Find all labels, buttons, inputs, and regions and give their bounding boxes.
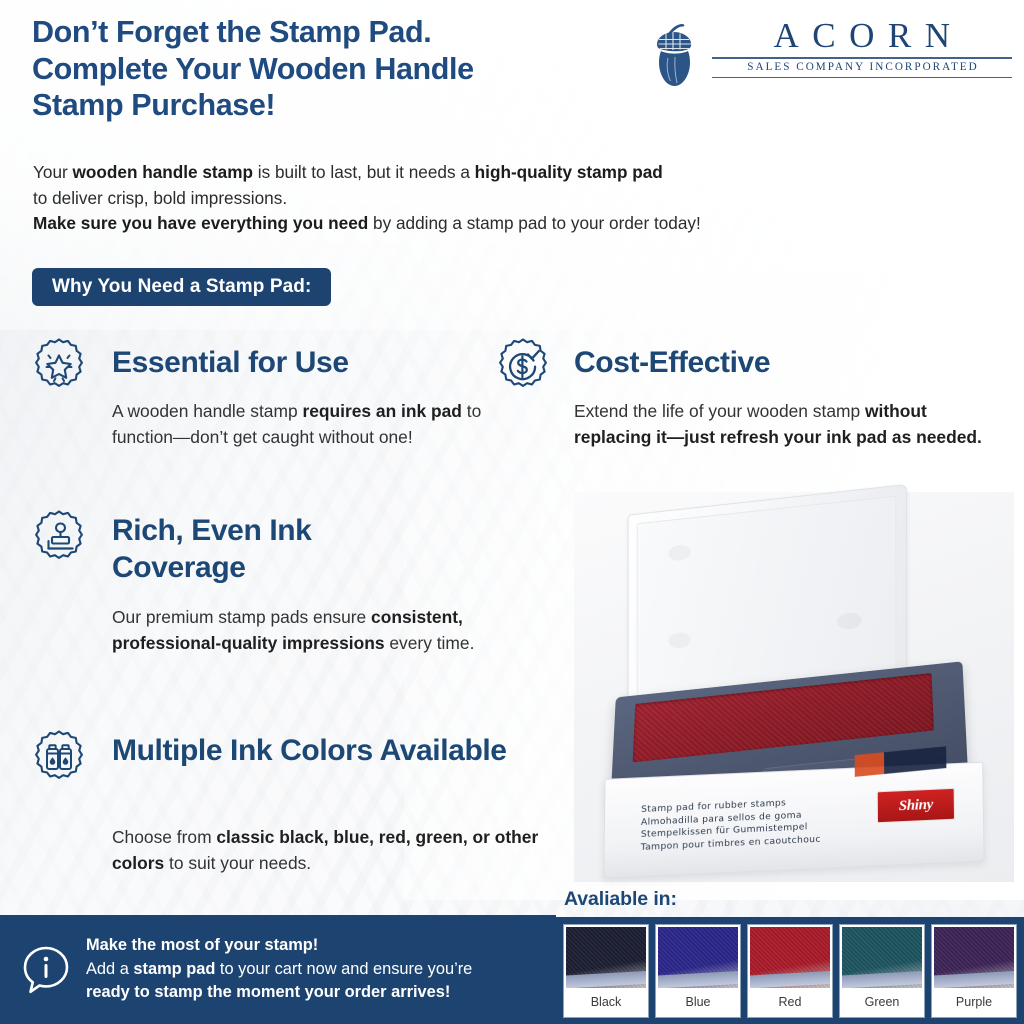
feature-body: Extend the life of your wooden stamp wit… xyxy=(574,398,1004,450)
color-swatch-red[interactable]: Red xyxy=(748,925,832,1017)
feature-body: Choose from classic black, blue, red, gr… xyxy=(112,824,552,876)
cta-line-3: ready to stamp the moment your order arr… xyxy=(86,981,472,1005)
swatch-label: Green xyxy=(842,988,922,1015)
acorn-icon xyxy=(644,18,706,90)
headline-line-2: Complete Your Wooden Handle xyxy=(32,51,652,88)
badge-star-icon xyxy=(28,336,90,398)
swatch-label: Red xyxy=(750,988,830,1015)
headline-line-1: Don’t Forget the Stamp Pad. xyxy=(32,14,652,51)
swatch-color-fill xyxy=(566,927,646,988)
intro-line-2: to deliver crisp, bold impressions. xyxy=(33,186,913,212)
available-in-label: Avaliable in: xyxy=(564,888,677,911)
color-swatch-blue[interactable]: Blue xyxy=(656,925,740,1017)
feature-title: Rich, Even Ink Coverage xyxy=(112,512,442,586)
swatch-label: Black xyxy=(566,988,646,1015)
color-swatch-purple[interactable]: Purple xyxy=(932,925,1016,1017)
color-swatch-black[interactable]: Black xyxy=(564,925,648,1017)
feature-body: Our premium stamp pads ensure consistent… xyxy=(112,604,492,656)
logo-name: ACORN xyxy=(712,16,1012,56)
swatch-color-fill xyxy=(934,927,1014,988)
logo-rule-bottom xyxy=(712,77,1012,79)
lid-dimple xyxy=(668,632,690,649)
cta-text: Make the most of your stamp! Add a stamp… xyxy=(86,934,472,1005)
headline-line-3: Stamp Purchase! xyxy=(32,87,652,124)
intro-paragraph: Your wooden handle stamp is built to las… xyxy=(33,160,913,237)
cta-line-2: Add a stamp pad to your cart now and ens… xyxy=(86,958,472,982)
swatch-color-fill xyxy=(842,927,922,988)
page-title: Don’t Forget the Stamp Pad. Complete You… xyxy=(32,14,652,124)
shiny-brand-logo: Shiny xyxy=(877,788,955,823)
header: Don’t Forget the Stamp Pad. Complete You… xyxy=(32,8,1012,148)
intro-line-1: Your wooden handle stamp is built to las… xyxy=(33,160,913,186)
why-you-need-label: Why You Need a Stamp Pad: xyxy=(52,276,311,298)
logo-tagline: SALES COMPANY INCORPORATED xyxy=(712,59,1012,76)
feature-title: Essential for Use xyxy=(112,344,349,381)
lid-dimple xyxy=(837,612,862,630)
swatch-label: Blue xyxy=(658,988,738,1015)
carton-description-lines: Stamp pad for rubber stamps Almohadilla … xyxy=(641,793,892,855)
badge-dollar-check-icon xyxy=(492,336,554,398)
acorn-logo: ACORN SALES COMPANY INCORPORATED xyxy=(640,16,1012,92)
swatch-color-fill xyxy=(750,927,830,988)
why-you-need-badge: Why You Need a Stamp Pad: xyxy=(32,268,331,306)
lid-dimple xyxy=(668,544,690,562)
cta-banner: Make the most of your stamp! Add a stamp… xyxy=(0,915,556,1024)
color-swatch-bar: Black Blue Red Green Purple xyxy=(556,917,1024,1024)
feature-body: A wooden handle stamp requires an ink pa… xyxy=(112,398,512,450)
product-carton: Stamp pad for rubber stamps Almohadilla … xyxy=(603,762,984,879)
badge-ink-bottles-icon xyxy=(28,728,90,790)
badge-stamp-icon xyxy=(28,508,90,570)
info-bubble-icon xyxy=(20,944,72,996)
cta-line-1: Make the most of your stamp! xyxy=(86,934,472,958)
product-photo: Stamp pad for rubber stamps Almohadilla … xyxy=(574,492,1014,882)
swatch-label: Purple xyxy=(934,988,1014,1015)
logo-wordmark: ACORN SALES COMPANY INCORPORATED xyxy=(712,16,1012,78)
shiny-brand-name: Shiny xyxy=(899,796,933,814)
color-swatch-green[interactable]: Green xyxy=(840,925,924,1017)
feature-title: Cost-Effective xyxy=(574,344,770,381)
feature-title: Multiple Ink Colors Available xyxy=(112,732,532,769)
swatch-color-fill xyxy=(658,927,738,988)
intro-line-3: Make sure you have everything you need b… xyxy=(33,211,913,237)
